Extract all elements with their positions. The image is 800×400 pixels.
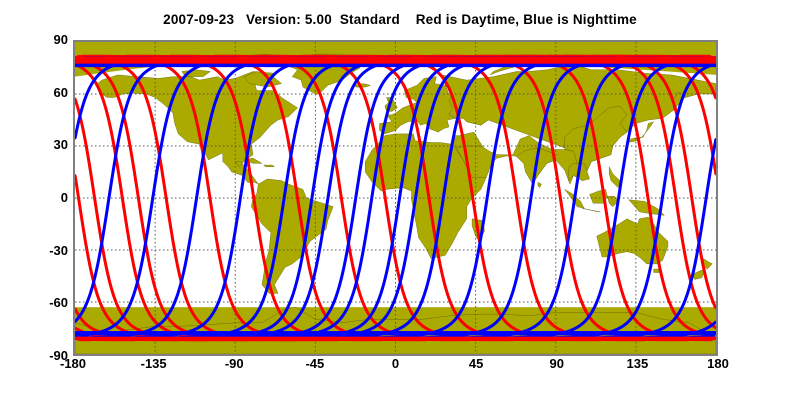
land-hispaniola: [264, 165, 275, 167]
map-canvas: [75, 42, 716, 354]
page-title: 2007-09-23 Version: 5.00 Standard Red is…: [0, 12, 800, 27]
x-tick-45: 45: [446, 357, 506, 370]
y-axis-tick-labels: -90-60-300306090: [28, 40, 68, 356]
y-tick-30: 30: [30, 138, 68, 151]
x-tick--135: -135: [124, 357, 184, 370]
y-tick--30: -30: [30, 244, 68, 257]
south-nighttime-band: [75, 331, 716, 335]
north-nighttime-band: [75, 64, 716, 67]
plot-area: [73, 40, 718, 356]
x-tick-0: 0: [366, 357, 426, 370]
satellite-ground-track-figure: 2007-09-23 Version: 5.00 Standard Red is…: [0, 0, 800, 400]
y-tick-90: 90: [30, 33, 68, 46]
x-tick-180: 180: [688, 357, 748, 370]
x-tick--45: -45: [285, 357, 345, 370]
x-tick-90: 90: [527, 357, 587, 370]
x-tick--90: -90: [204, 357, 264, 370]
north-daytime-band: [75, 56, 716, 64]
x-tick--180: -180: [43, 357, 103, 370]
x-tick-135: 135: [607, 357, 667, 370]
y-tick--60: -60: [30, 296, 68, 309]
y-tick-0: 0: [30, 191, 68, 204]
south-daytime-band: [75, 337, 716, 340]
x-axis-tick-labels: -180-135-90-4504590135180: [73, 357, 718, 379]
land-tasmania: [654, 269, 659, 272]
y-tick-60: 60: [30, 86, 68, 99]
